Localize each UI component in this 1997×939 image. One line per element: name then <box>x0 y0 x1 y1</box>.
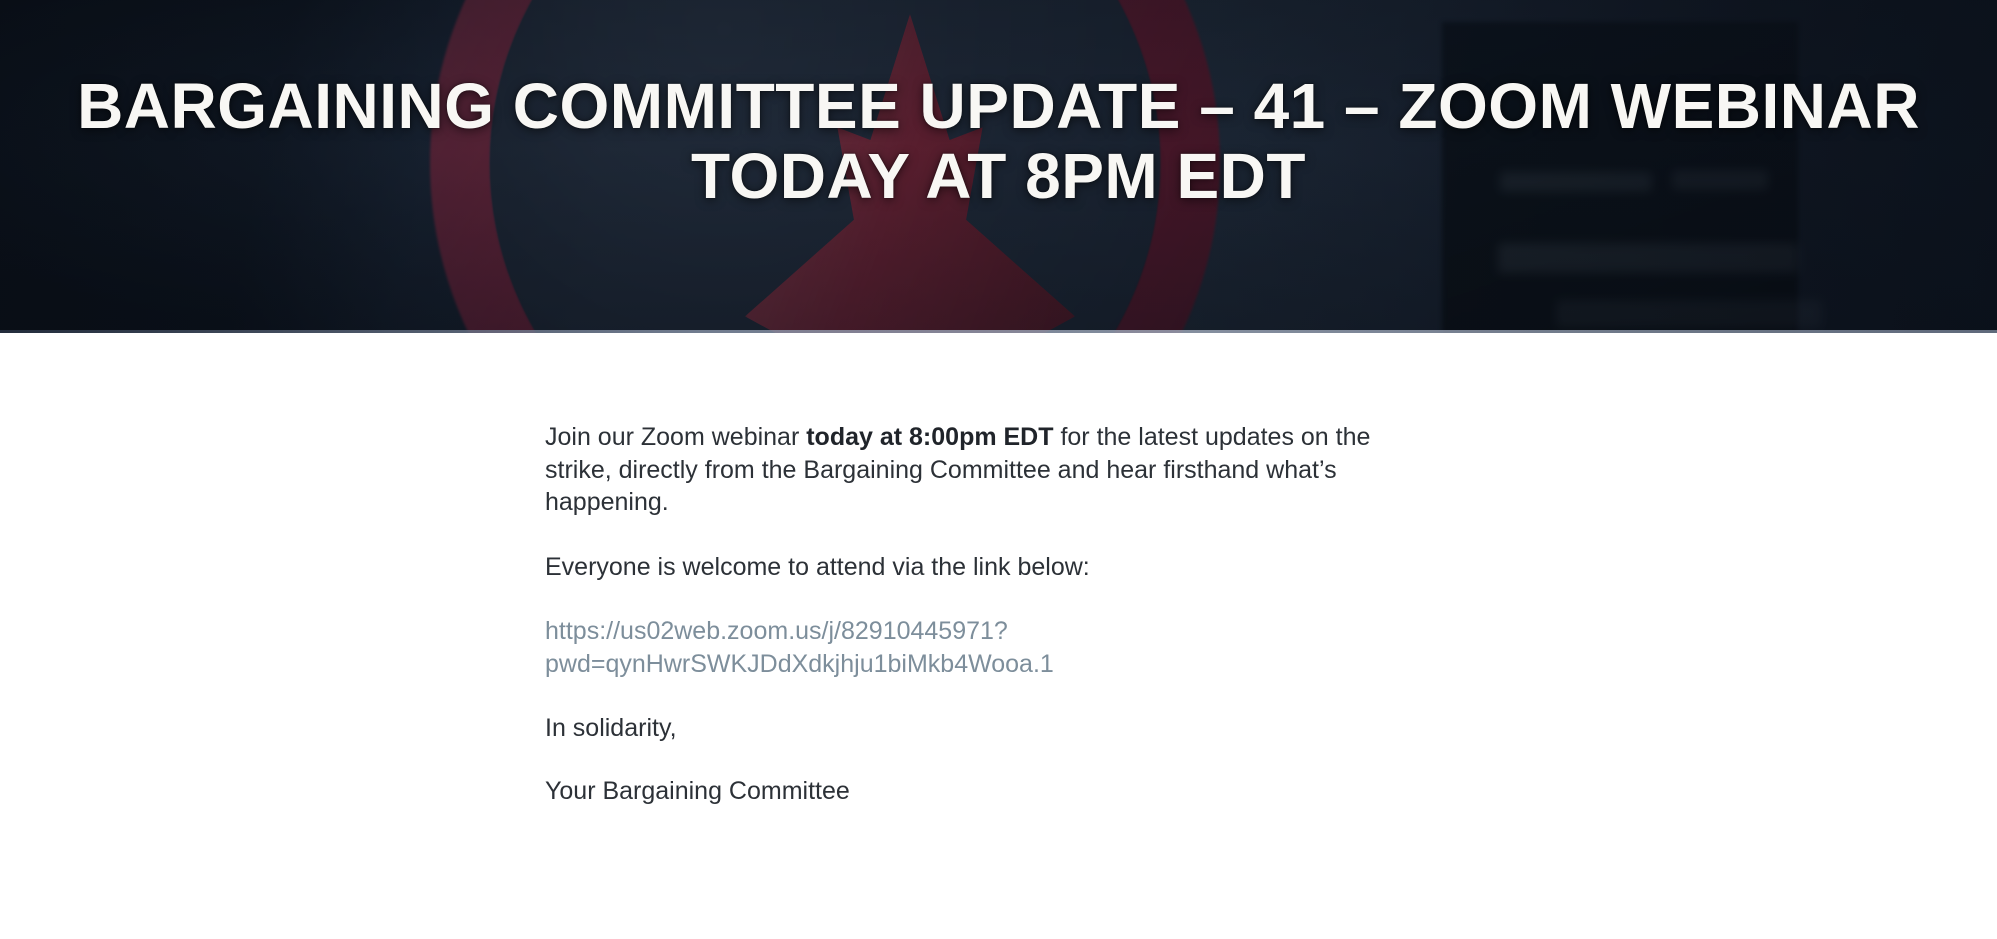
page-title: Bargaining Committee Update – 41 – Zoom … <box>0 72 1997 212</box>
main-content: Join our Zoom webinar today at 8:00pm ED… <box>0 333 1997 807</box>
hero-bottom-divider <box>0 330 1997 333</box>
paragraph-welcome: Everyone is welcome to attend via the li… <box>545 551 1375 584</box>
page-root: Bargaining Committee Update – 41 – Zoom … <box>0 0 1997 807</box>
paragraph-intro-lead: Join our Zoom webinar <box>545 423 806 451</box>
article-body: Join our Zoom webinar today at 8:00pm ED… <box>545 421 1375 807</box>
paragraph-intro: Join our Zoom webinar today at 8:00pm ED… <box>545 421 1375 519</box>
paragraph-signature: Your Bargaining Committee <box>545 775 1375 808</box>
zoom-webinar-link[interactable]: https://us02web.zoom.us/j/82910445971?pw… <box>545 615 1375 680</box>
webinar-time-emphasis: today at 8:00pm EDT <box>806 423 1053 451</box>
paragraph-closing: In solidarity, <box>545 712 1375 745</box>
hero-banner: Bargaining Committee Update – 41 – Zoom … <box>0 0 1997 333</box>
paragraph-link-wrapper: https://us02web.zoom.us/j/82910445971?pw… <box>545 615 1375 680</box>
